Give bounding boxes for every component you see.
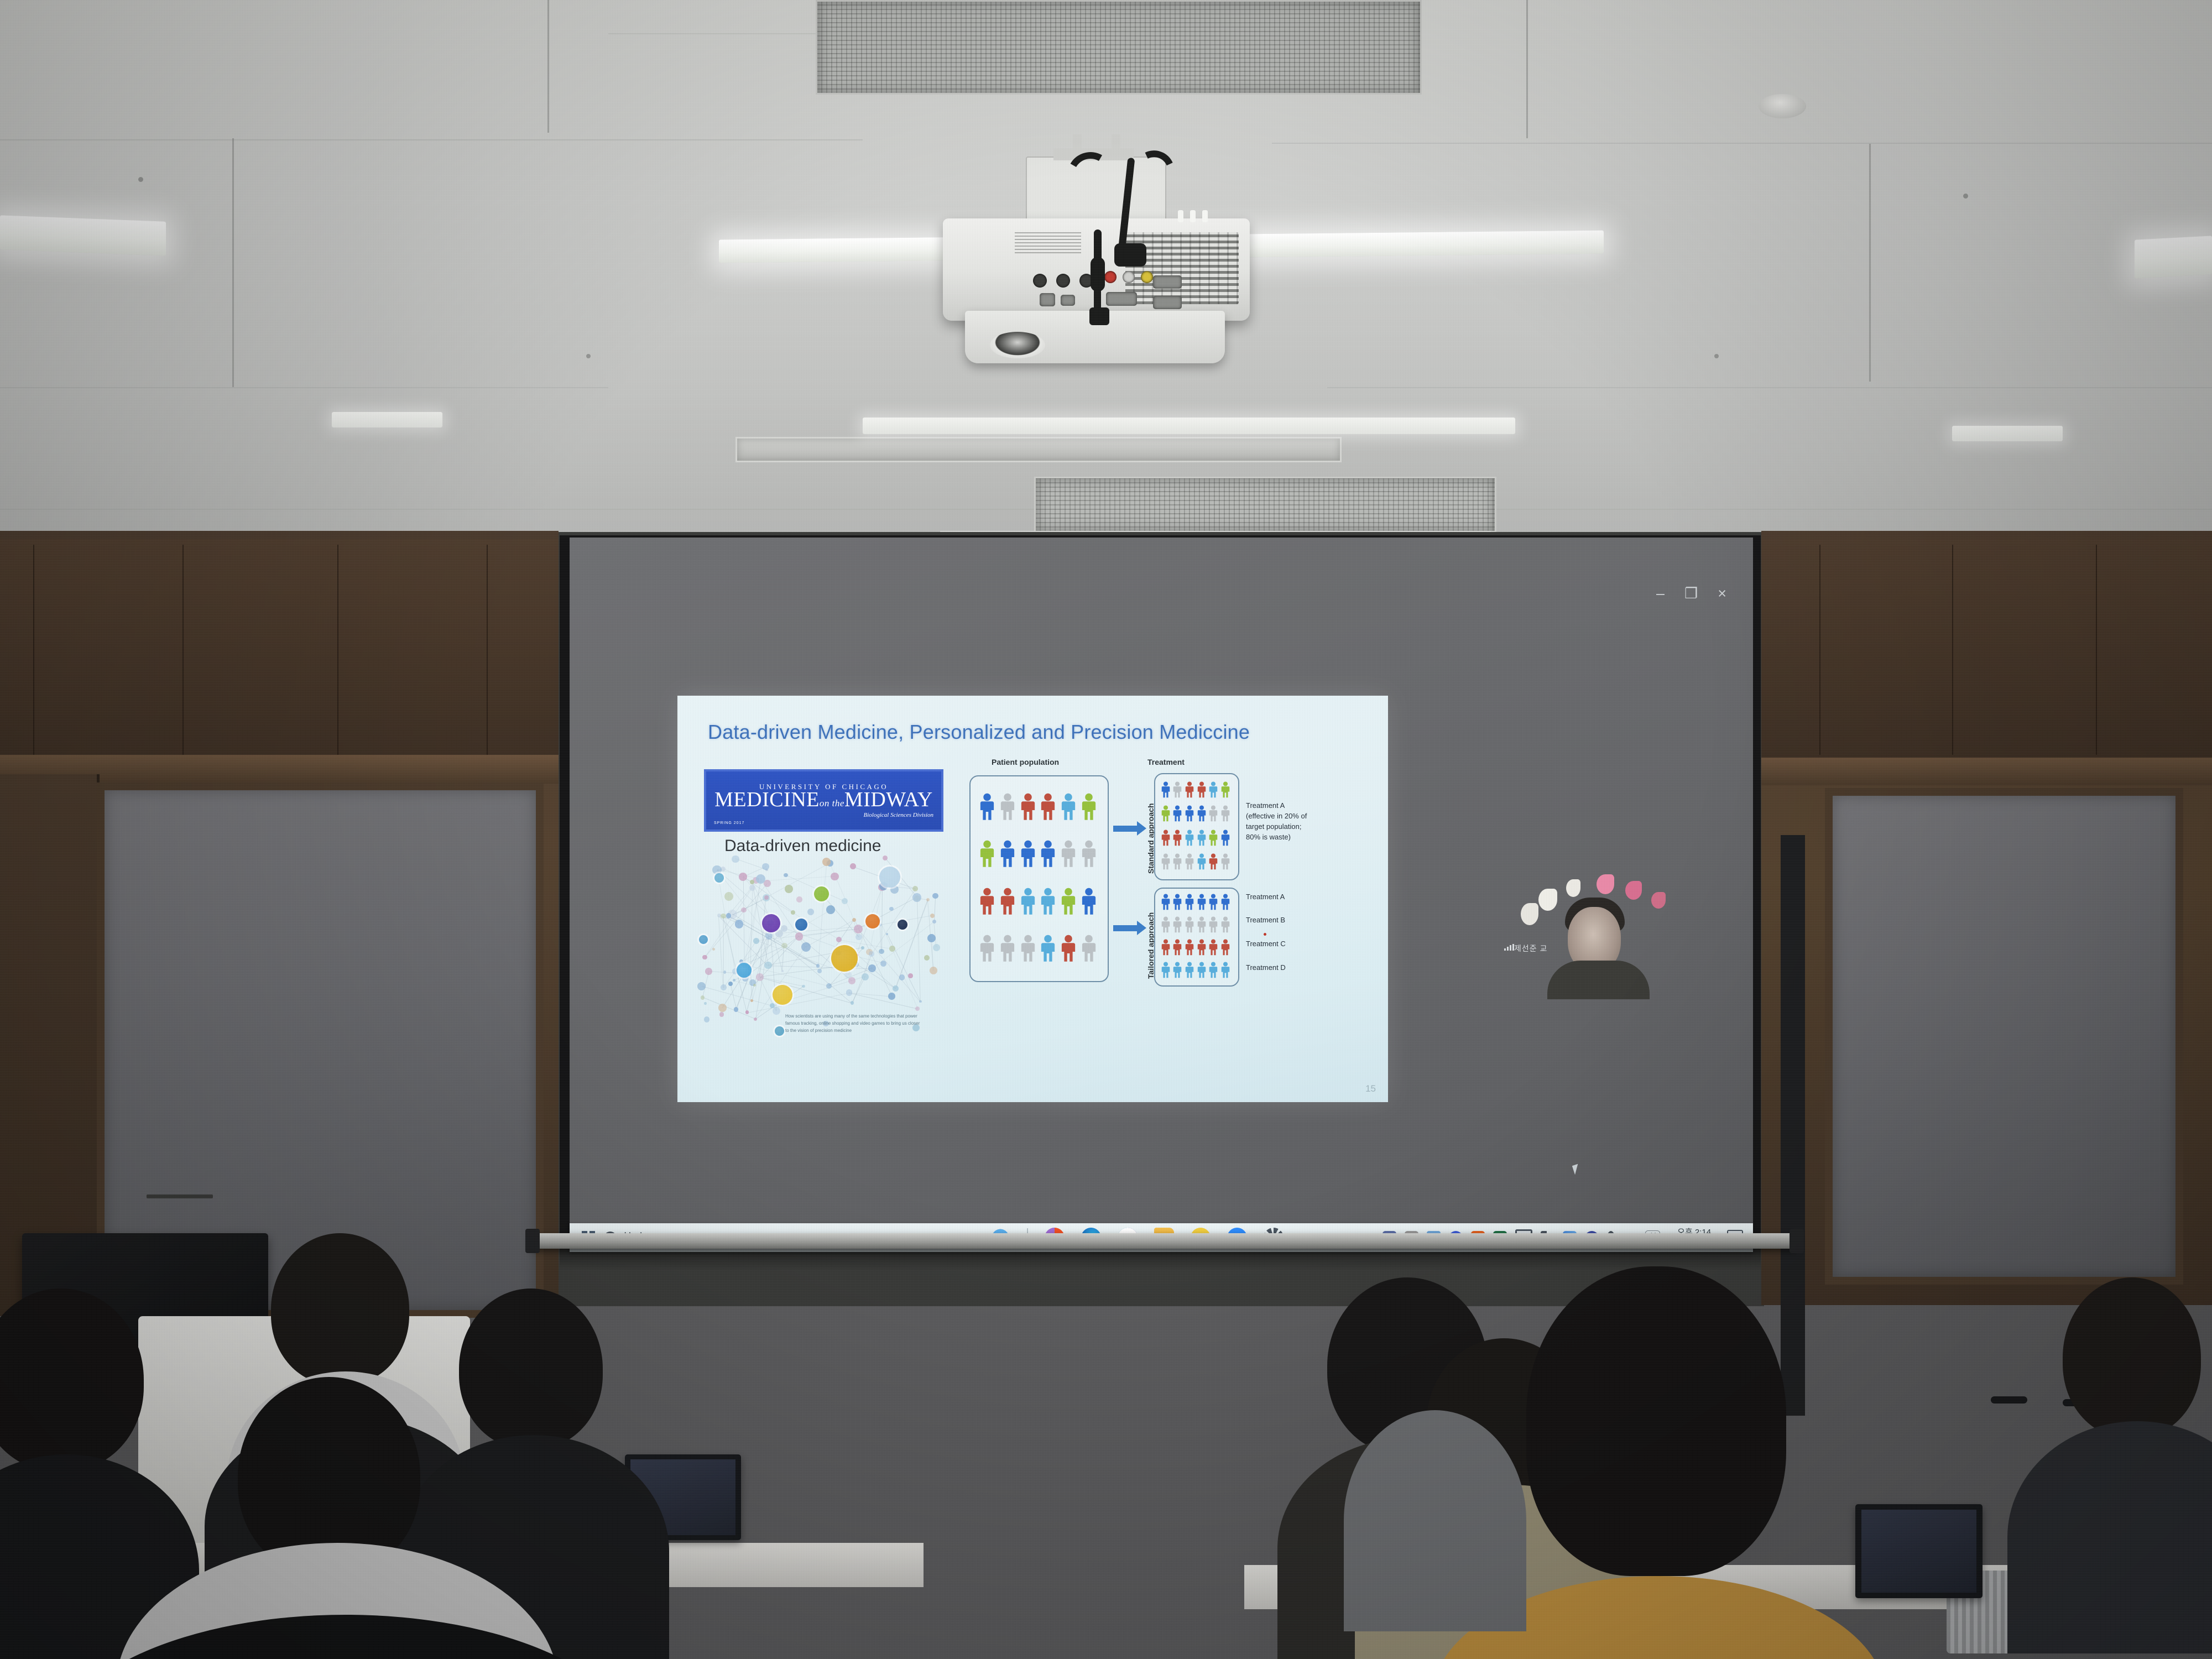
network-node [912,886,918,891]
projector-rca-port [1141,271,1153,283]
roller-end-cap [525,1229,540,1253]
network-node [854,925,863,933]
network-hub-node [714,873,724,883]
pictogram-cell [1183,890,1196,913]
pictogram-cell [1208,913,1220,936]
projector-cable-ferrite [1091,257,1105,291]
wood-panel-upper-left [0,539,559,758]
network-node [926,898,930,901]
wall-column [1781,835,1805,1416]
network-node [879,949,884,954]
network-node [745,1010,749,1014]
tailored-note-b: Treatment B [1246,915,1285,926]
network-edge [723,916,724,988]
person-pictogram [1081,840,1097,868]
pictogram-cell [1196,778,1208,802]
pictogram-cell [1078,925,1099,973]
network-node [908,973,913,978]
pictogram-cell [1160,826,1172,850]
pictogram-cell [1196,959,1208,982]
pictogram-cell [1160,959,1172,982]
network-node [883,855,888,860]
network-hub-node [814,886,829,901]
network-node [765,932,773,940]
pictogram-cell [1196,826,1208,850]
person-pictogram [999,793,1016,821]
pictogram-cell [1172,959,1184,982]
video-artifact [1597,874,1614,894]
person-pictogram [1197,962,1207,978]
pictogram-cell [1172,802,1184,826]
ceiling-seam [232,138,234,387]
person-pictogram [1185,962,1194,978]
masthead-tagline: Biological Sciences Division [864,812,933,818]
pictogram-cell [1038,878,1058,925]
person-pictogram [1081,793,1097,821]
network-node [807,909,814,915]
pictogram-cell [1196,913,1208,936]
network-figure: Data-driven medicine How scientists are … [697,837,951,1058]
pictogram-cell [1183,802,1196,826]
network-node [862,973,869,981]
network-node [773,1007,780,1015]
person-pictogram [1081,888,1097,915]
network-hub-node [795,919,807,931]
network-node [754,1018,757,1021]
person-pictogram [1161,939,1171,956]
network-node [704,1016,709,1022]
person-pictogram [1020,840,1036,868]
projector-label [1015,231,1081,253]
ceiling-light [1952,426,2063,441]
slide-title: Data-driven Medicine, Personalized and P… [708,721,1250,744]
treatment-pictogram-diagram: Patient population Treatment Standard ap… [965,758,1374,1067]
person-pictogram [1220,805,1230,822]
pictogram-cell [1219,802,1232,826]
laptop [1855,1504,1983,1598]
person-pictogram [1060,793,1077,821]
pictogram-cell [1172,850,1184,874]
network-node [848,977,855,984]
pictogram-cell [977,783,998,831]
tailored-note-d: Treatment D [1246,963,1286,973]
projector-usb-port [1061,295,1075,306]
tailored-note-a: Treatment A [1246,892,1285,902]
person-pictogram [1185,939,1194,956]
person-pictogram [1060,888,1077,915]
pictogram-cell [1183,936,1196,959]
person-pictogram [1208,781,1218,798]
projector-mount-arm [1112,134,1120,158]
pictogram-cell [998,783,1018,831]
person-pictogram [1161,830,1171,846]
pictogram-cell [1208,890,1220,913]
pictogram-cell [977,831,998,878]
network-node [850,863,856,869]
network-node [880,961,886,967]
window-controls[interactable]: – ❐ × [1656,586,1726,601]
video-conference-tile[interactable]: 제선준 교 [1504,854,1681,995]
network-node [816,964,820,968]
tailored-note-c: Treatment C [1246,939,1286,950]
network-edge [701,986,772,1006]
person-pictogram [1197,939,1207,956]
pictogram-cell [1183,778,1196,802]
video-artifact [1651,892,1666,909]
person-pictogram [1040,888,1056,915]
projector-vga-port [1153,296,1182,309]
person-pictogram [1220,939,1230,956]
video-participant-name: 제선준 교 [1514,943,1547,954]
network-node [842,898,848,904]
pictogram-cell [1058,925,1079,973]
person-pictogram [979,840,995,868]
network-node [781,943,787,948]
signal-bars-icon [1504,944,1514,951]
network-node [741,907,746,912]
pictogram-cell [1018,925,1038,973]
ceiling-light [2135,236,2212,278]
pictogram-cell [1183,913,1196,936]
projector-rca-port [1123,271,1135,283]
ceiling-seam [1327,387,2212,388]
pictogram-cell [1058,783,1079,831]
person-pictogram [1185,805,1194,822]
network-node [702,955,707,959]
pictogram-cell [977,925,998,973]
person-pictogram [1161,894,1171,910]
ceiling-light [332,412,442,427]
arrow-to-standard [1113,826,1138,832]
person-pictogram [1172,916,1182,933]
network-node [721,914,726,919]
person-pictogram [1208,894,1218,910]
network-node [889,907,893,911]
pictogram-cell [998,831,1018,878]
person-pictogram [1161,853,1171,870]
person-pictogram [1197,781,1207,798]
projector-cable-connector [1114,243,1146,267]
person-pictogram [1020,793,1036,821]
pictogram-cell [1160,936,1172,959]
person-pictogram [1060,935,1077,962]
person-pictogram [1197,805,1207,822]
wood-rail [1761,758,2212,785]
network-node [735,920,744,928]
masthead-word-left: MEDICINE [714,788,820,811]
person-pictogram [1040,793,1056,821]
presentation-slide: Data-driven Medicine, Personalized and P… [677,696,1388,1102]
close-button[interactable]: × [1718,586,1726,601]
tailored-approach-grid [1160,890,1232,982]
projector-status-leds [1178,210,1227,222]
note-line: Treatment A [1246,801,1345,811]
pictogram-cell [1018,783,1038,831]
projector-vga-port [1106,292,1137,306]
person-pictogram [1208,805,1218,822]
standard-approach-note: Treatment A (effective in 20% of target … [1246,801,1345,842]
arrow-to-tailored [1113,925,1138,931]
masthead-word-join: on the [820,798,844,808]
network-edge [934,896,936,921]
pictogram-cell [1219,959,1232,982]
video-artifact [1625,881,1642,900]
pictogram-cell [1172,913,1184,936]
pictogram-cell [1196,802,1208,826]
network-node [889,946,895,952]
pictogram-cell [1208,778,1220,802]
note-bullet-dot [1264,933,1266,936]
network-node [732,855,739,863]
projector-port [1033,274,1047,288]
network-node [784,873,788,878]
network-node [712,948,715,951]
network-node [915,1006,920,1011]
network-hub-node [865,914,880,928]
network-edge [872,968,896,988]
network-node [701,995,705,1000]
network-node [930,914,935,918]
network-node [750,880,754,884]
person-pictogram [1220,894,1230,910]
note-line: 80% is waste) [1246,832,1345,843]
network-node [739,873,747,881]
pictogram-cell [1078,878,1099,925]
smoke-detector-icon [1759,94,1806,118]
standard-approach-grid [1160,778,1232,874]
ceiling-seam [0,387,608,388]
network-node [851,1001,854,1004]
roller-end-cap [1790,1229,1804,1253]
pictogram-cell [1172,826,1184,850]
network-node [728,982,733,986]
person-pictogram [1185,853,1194,870]
network-node [750,999,753,1002]
pictogram-cell [1160,890,1172,913]
person-pictogram [1197,916,1207,933]
person-pictogram [1208,916,1218,933]
network-node [697,982,706,990]
network-node [826,905,835,914]
pictogram-cell [1018,831,1038,878]
network-node [704,1002,707,1005]
network-node [726,913,731,918]
person-pictogram [1172,853,1182,870]
network-hub-node [898,920,907,930]
person-pictogram [979,793,995,821]
pictogram-cell [1038,925,1058,973]
network-node [749,885,755,891]
pictogram-cell [998,878,1018,925]
ceiling-fitting [1714,354,1719,358]
projector-rca-port [1104,271,1117,283]
person-pictogram [1161,916,1171,933]
person-pictogram [1220,916,1230,933]
ceiling-light [863,418,1515,434]
person-pictogram [1197,853,1207,870]
pictogram-cell [1160,778,1172,802]
pictogram-cell [1183,959,1196,982]
ceiling-air-vent [1034,477,1496,533]
masthead-issue: SPRING 2017 [714,821,744,825]
person-pictogram [999,888,1016,915]
pictogram-cell [1058,878,1079,925]
pictogram-cell [1172,936,1184,959]
network-hub-node [879,867,900,888]
network-edge [731,984,737,1009]
person-pictogram [1220,853,1230,870]
video-artifact [1538,889,1557,911]
pictogram-cell [1208,802,1220,826]
network-hub-node [831,945,858,972]
pictogram-cell [998,925,1018,973]
ceiling-fitting [1963,194,1968,199]
person-pictogram [1172,962,1182,978]
person-pictogram [1185,916,1194,933]
person-pictogram [1220,781,1230,798]
person-pictogram [1208,853,1218,870]
person-pictogram [1172,830,1182,846]
network-node [762,863,769,870]
pictogram-cell [1160,913,1172,936]
person-pictogram [1220,962,1230,978]
minimize-button[interactable]: – [1656,586,1665,601]
network-node [899,974,905,980]
person-pictogram [1220,830,1230,846]
network-node [705,968,712,975]
network-node [888,993,895,1000]
slide-page-number: 15 [1365,1083,1376,1094]
person-pictogram [1020,888,1036,915]
person-pictogram [1208,939,1218,956]
magazine-masthead: UNIVERSITY OF CHICAGO MEDICINEon theMIDW… [704,769,943,832]
network-node [924,955,930,961]
masthead-word-right: MIDWAY [844,788,933,811]
restore-button[interactable]: ❐ [1684,586,1698,601]
network-node [826,983,832,989]
person-pictogram [1040,935,1056,962]
pictogram-cell [1172,778,1184,802]
network-node [933,944,940,951]
network-node [756,973,763,980]
pictogram-cell [1219,826,1232,850]
pictogram-cell [1172,890,1184,913]
network-node [919,1000,922,1003]
network-node [781,925,787,932]
network-node [927,934,936,942]
projector-cable-connector [1089,307,1109,325]
pictogram-cell [1018,878,1038,925]
ceiling-fitting [138,177,143,182]
network-figure-caption: How scientists are using many of the sam… [785,1013,924,1035]
network-node [785,885,793,893]
network-edge [723,868,752,882]
network-node [718,1004,727,1012]
pictogram-cell [1196,890,1208,913]
projector-vga-port [1153,275,1182,289]
person-pictogram [1172,781,1182,798]
pictogram-cell [1208,850,1220,874]
network-node [721,984,727,990]
note-line: target population; [1246,822,1345,832]
projector-lan-port [1040,293,1055,306]
screen-shadow [560,1249,1761,1271]
person-pictogram [1161,805,1171,822]
network-node [796,896,802,902]
masthead-wordmark: MEDICINEon theMIDWAY [714,789,933,810]
ceiling-fitting [586,354,591,358]
network-edge [917,898,921,1001]
pictogram-cell [1219,850,1232,874]
pictogram-cell [1219,890,1232,913]
network-hub-node [775,1026,784,1036]
network-hub-node [762,914,780,932]
network-edge [881,888,883,952]
pictogram-cell [1160,850,1172,874]
network-hub-node [699,935,708,944]
person-pictogram [979,888,995,915]
network-node [781,970,784,972]
pictogram-cell [1038,783,1058,831]
ceiling-seam [1272,143,2212,144]
network-node [855,934,862,941]
pictogram-cell [1196,936,1208,959]
network-node [723,971,727,974]
video-artifact [1566,879,1580,897]
person-pictogram [1208,830,1218,846]
ceiling-air-vent [816,0,1422,95]
lecture-hall-photo: – ❐ × Data-driven Medicine, Personalized… [0,0,2212,1659]
network-node [846,989,852,995]
network-node [753,938,759,944]
projector-port [1056,274,1070,288]
network-node [932,893,938,899]
network-node [817,969,822,973]
pictogram-cell [1208,826,1220,850]
person-pictogram [1172,939,1182,956]
network-node [801,942,811,952]
pictogram-cell [1160,802,1172,826]
ceiling-seam [0,139,863,140]
diagram-label-treatment: Treatment [1147,758,1185,766]
note-line: (effective in 20% of [1246,811,1345,822]
pictogram-cell [1058,831,1079,878]
pictogram-cell [1183,850,1196,874]
whiteboard-panel-right [1825,788,2183,1285]
person-pictogram [1060,840,1077,868]
network-node [764,962,771,969]
pictogram-cell [977,878,998,925]
pictogram-cell [1219,936,1232,959]
ceiling-light [0,215,166,256]
person-pictogram [1172,894,1182,910]
person-pictogram [1161,962,1171,978]
diagram-label-patient-population: Patient population [992,758,1059,766]
network-node [861,946,864,950]
marker-tray [147,1194,213,1198]
network-node [912,893,921,902]
network-node [753,984,756,987]
person-pictogram [1197,894,1207,910]
ceiling-seam [608,33,841,34]
network-node [893,985,899,992]
patient-population-grid [977,783,1099,972]
pictogram-cell [1219,778,1232,802]
person-pictogram [1208,962,1218,978]
pictogram-cell [1196,850,1208,874]
pictogram-cell [1078,783,1099,831]
projector-lens [990,332,1045,358]
